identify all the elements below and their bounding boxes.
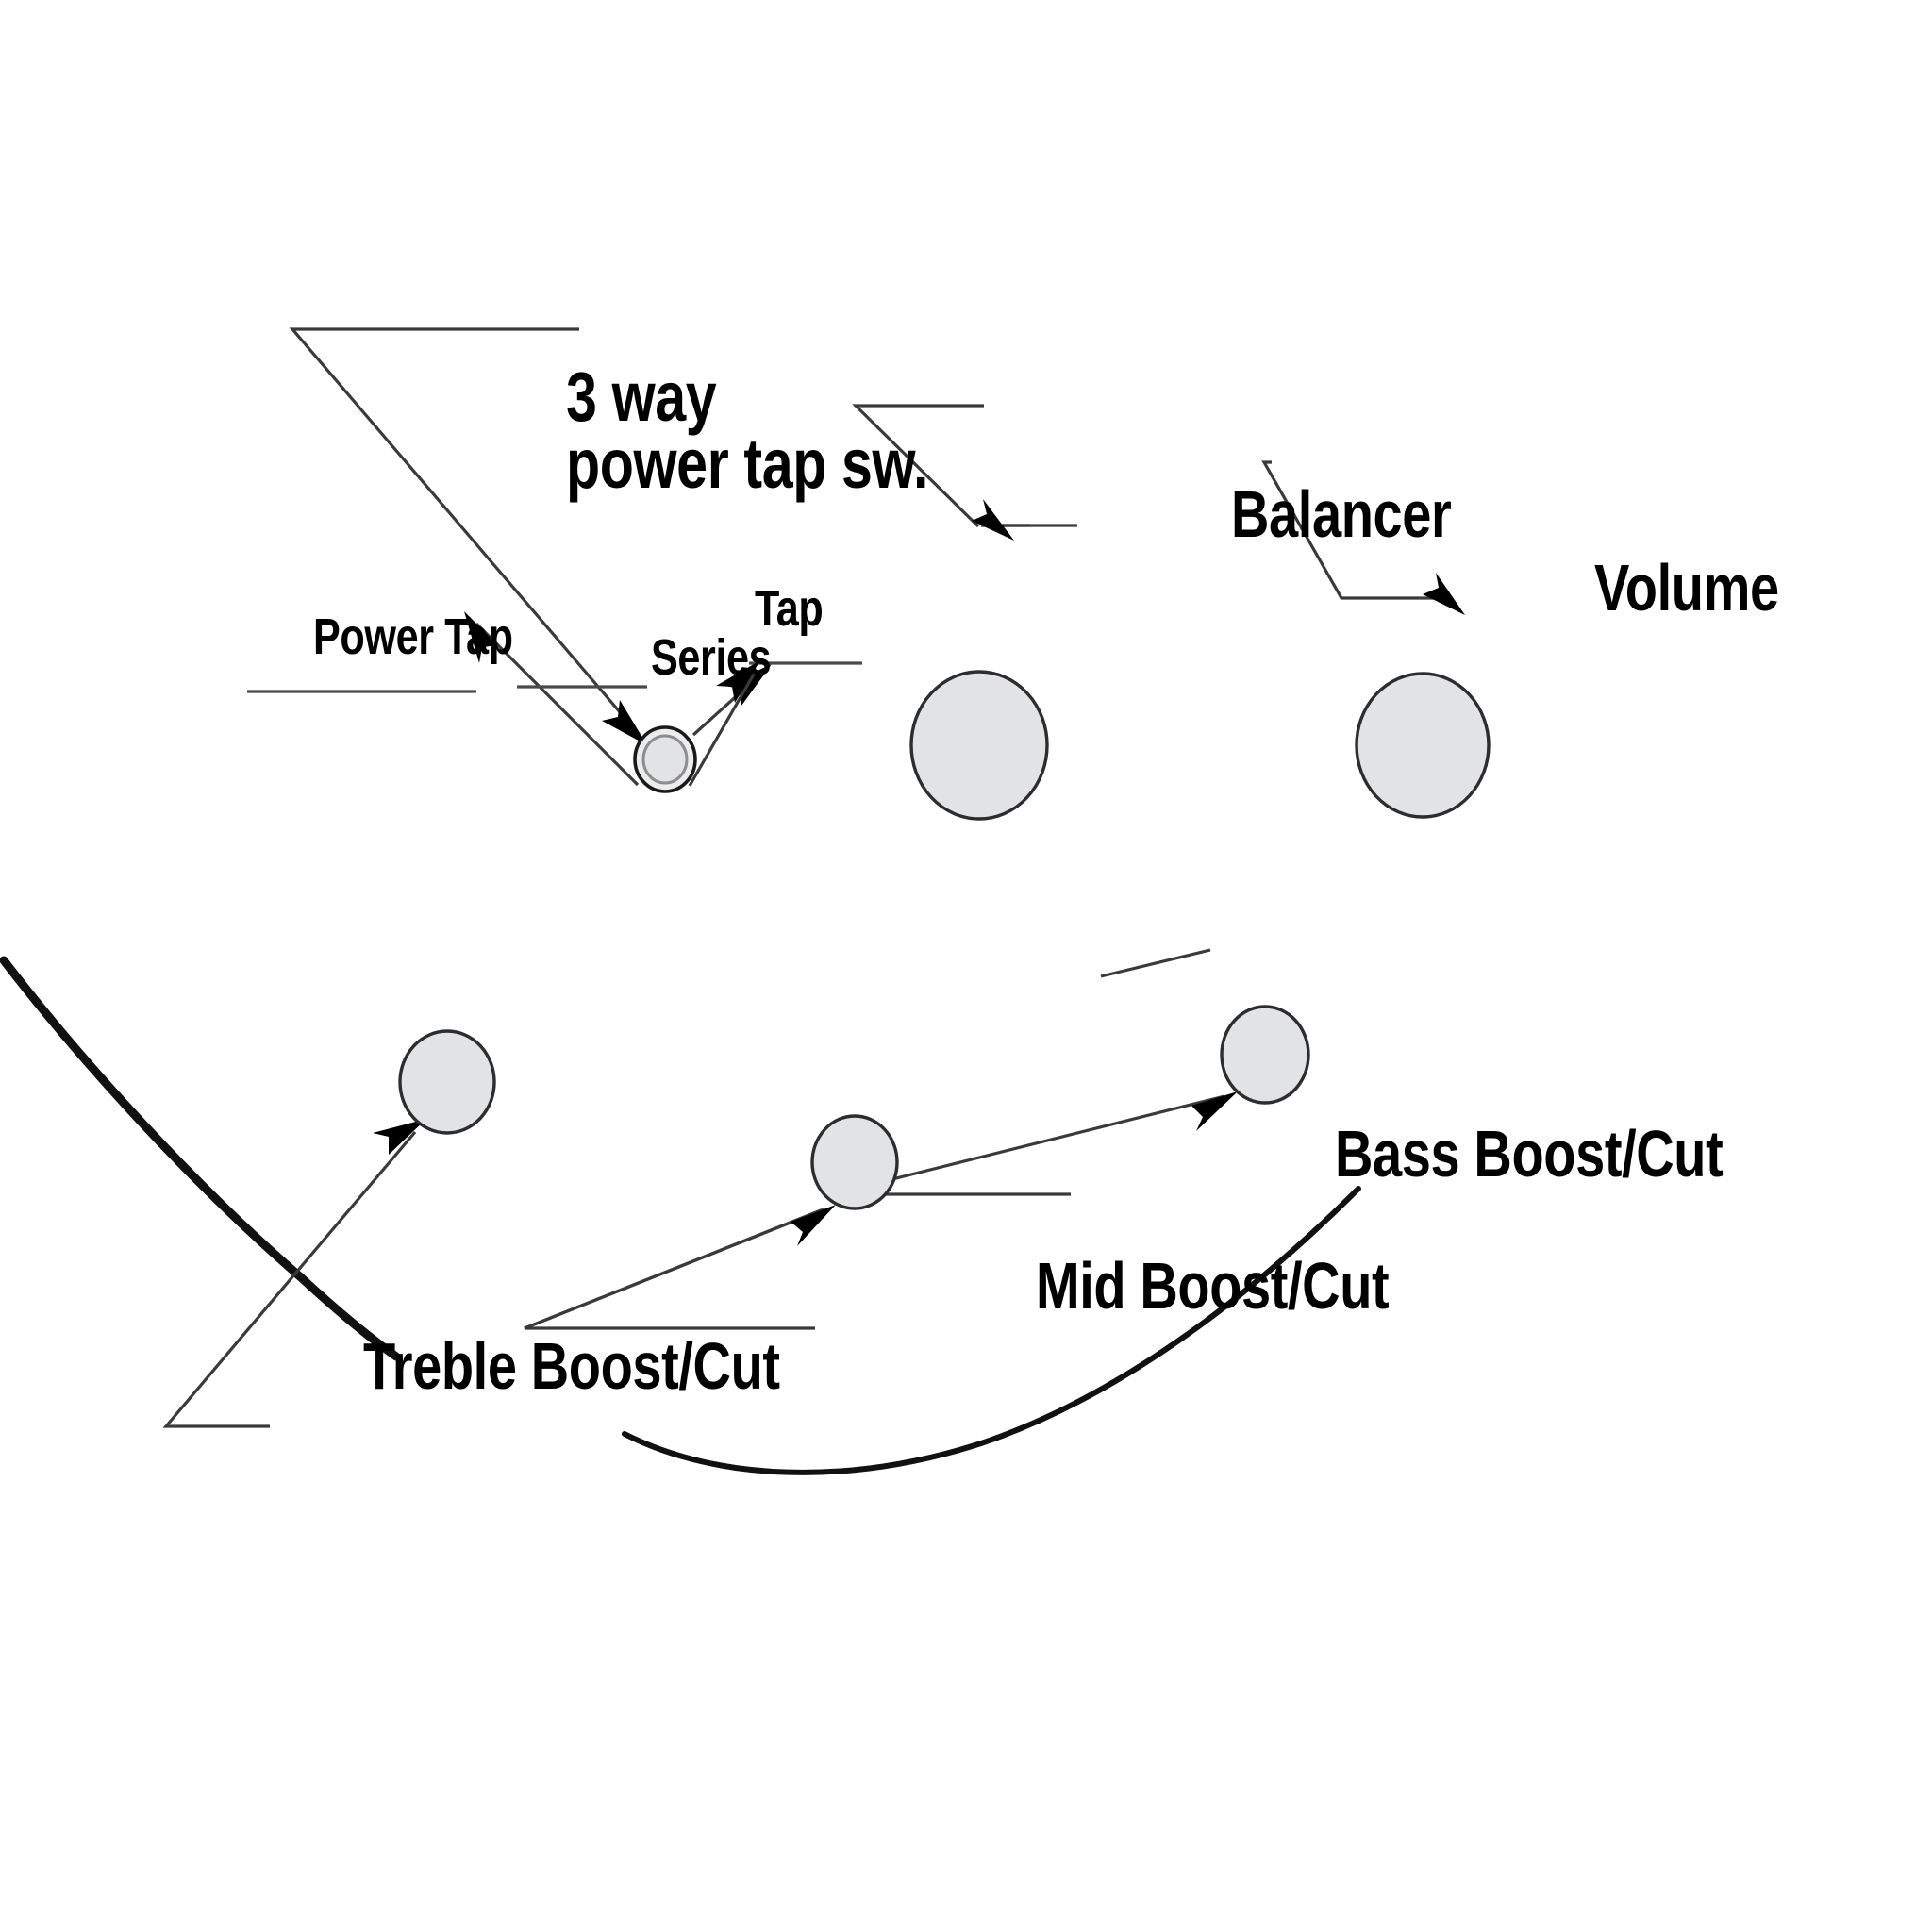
power-tap-switch-cap[interactable]: [643, 736, 687, 783]
leader-mid-diagonal: [525, 1209, 824, 1328]
label-power-tap: Power Tap: [313, 613, 513, 662]
arrowhead-volume: [1423, 573, 1465, 615]
label-balancer: Balancer: [1231, 483, 1451, 546]
treble-knob[interactable]: [400, 1031, 494, 1133]
volume-knob[interactable]: [1357, 674, 1489, 817]
label-3-way-line2: power tap sw.: [566, 425, 928, 503]
bass-knob[interactable]: [1222, 1007, 1308, 1103]
connector-bass-to-mid: [1101, 950, 1210, 976]
label-series: Series: [651, 634, 771, 683]
label-tap: Tap: [755, 585, 823, 634]
arrowhead-mid: [791, 1205, 836, 1246]
label-volume: Volume: [1594, 557, 1779, 620]
label-3-way-power-tap-switch: 3 waypower tap sw.: [566, 363, 928, 497]
label-treble-boost-cut: Treble Boost/Cut: [363, 1335, 780, 1398]
diagram-canvas: 3 waypower tap sw. Tap Power Tap Series …: [0, 0, 1932, 1932]
arrowhead-balancer: [972, 499, 1014, 541]
body-outline-upper-bout: [4, 960, 396, 1357]
label-bass-boost-cut: Bass Boost/Cut: [1335, 1123, 1723, 1186]
diagram-vector-layer: [0, 0, 1932, 1932]
label-mid-boost-cut: Mid Boost/Cut: [1036, 1255, 1389, 1318]
mid-knob[interactable]: [812, 1116, 897, 1208]
balancer-knob[interactable]: [911, 672, 1047, 819]
